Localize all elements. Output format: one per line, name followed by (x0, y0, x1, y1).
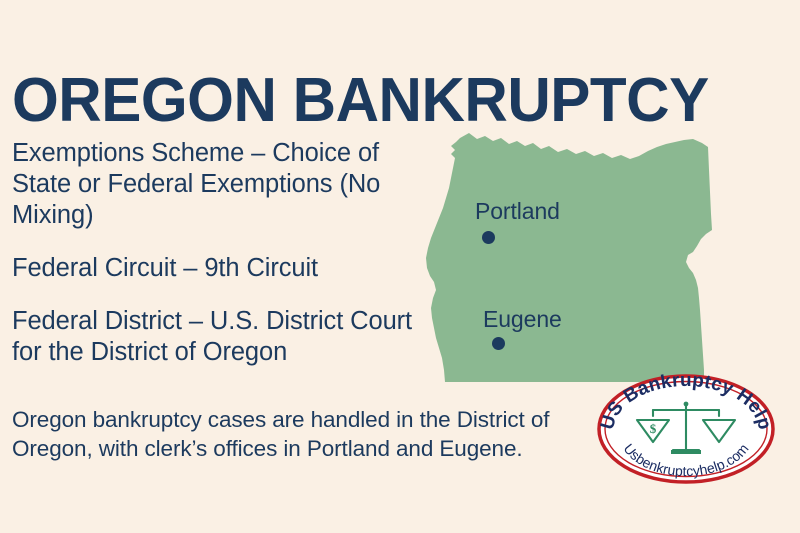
facts-list: Exemptions Scheme – Choice of State or F… (12, 138, 442, 368)
city-label-eugene: Eugene (483, 306, 562, 333)
summary-paragraph: Oregon bankruptcy cases are handled in t… (12, 405, 572, 463)
city-marker-portland (482, 231, 495, 244)
city-label-portland: Portland (475, 198, 560, 225)
logo-dollar-symbol: $ (650, 421, 657, 436)
fact-federal-district: Federal District – U.S. District Court f… (12, 306, 442, 368)
oregon-state-shape (426, 133, 712, 382)
city-marker-eugene (492, 337, 505, 350)
oregon-state-map (425, 130, 715, 392)
logo-badge[interactable]: $ US Bankruptcy Help Usbenkruptcyhelp.co… (597, 374, 775, 484)
page-title: OREGON BANKRUPTCY (12, 70, 709, 132)
fact-federal-circuit: Federal Circuit – 9th Circuit (12, 253, 442, 284)
infographic-canvas: OREGON BANKRUPTCY Exemptions Scheme – Ch… (0, 0, 800, 533)
fact-exemptions-scheme: Exemptions Scheme – Choice of State or F… (12, 138, 442, 231)
